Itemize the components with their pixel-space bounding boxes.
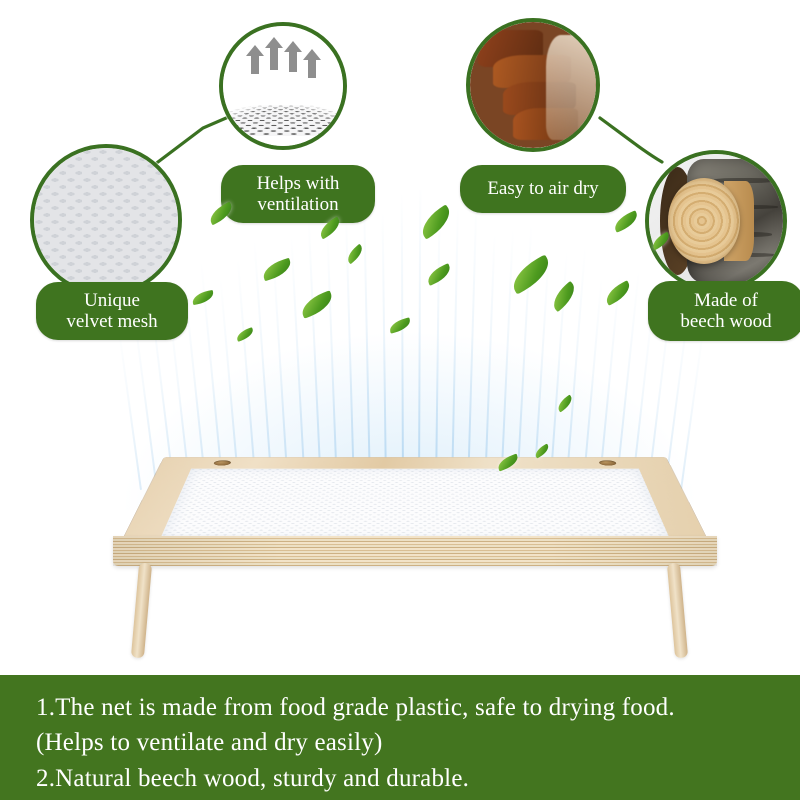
banner-line-3: 2.Natural beech wood, sturdy and durable… [36,762,800,795]
callout-label-text: Helps withventilation [257,173,340,216]
banner-line-1: 1.The net is made from food grade plasti… [36,691,800,724]
callout-label-velvet-mesh: Uniquevelvet mesh [36,282,188,340]
airflow-arrow-icon [308,58,316,78]
callout-label-text: Uniquevelvet mesh [66,290,157,333]
ventilation-mesh-texture [223,26,343,146]
dried-meat-photo [470,22,596,148]
callout-label-text: Made ofbeech wood [680,290,771,333]
callout-image-beech-wood [645,150,787,292]
callout-label-ventilation: Helps withventilation [221,165,375,223]
velvet-mesh-texture [34,148,178,292]
rack-mesh-net [160,469,670,540]
callout-image-air-dry [466,18,600,152]
airflow-arrow-icon [270,46,278,70]
callout-label-text: Easy to air dry [487,178,598,199]
rack-leg [131,563,152,659]
rack-leg [667,563,688,659]
infographic-canvas: Uniquevelvet mesh Helps withventilation … [0,0,800,800]
callout-image-velvet-mesh [30,144,182,296]
callout-image-ventilation [219,22,347,150]
callout-label-air-dry: Easy to air dry [460,165,626,213]
airflow-arrow-icon [289,50,297,72]
callout-label-beech-wood: Made ofbeech wood [648,281,800,341]
feature-banner: 1.The net is made from food grade plasti… [0,675,800,800]
banner-line-2: (Helps to ventilate and dry easily) [36,726,800,759]
rack-side-apron [113,536,717,566]
product-drying-rack [55,355,755,675]
airflow-arrow-icon [251,54,259,74]
